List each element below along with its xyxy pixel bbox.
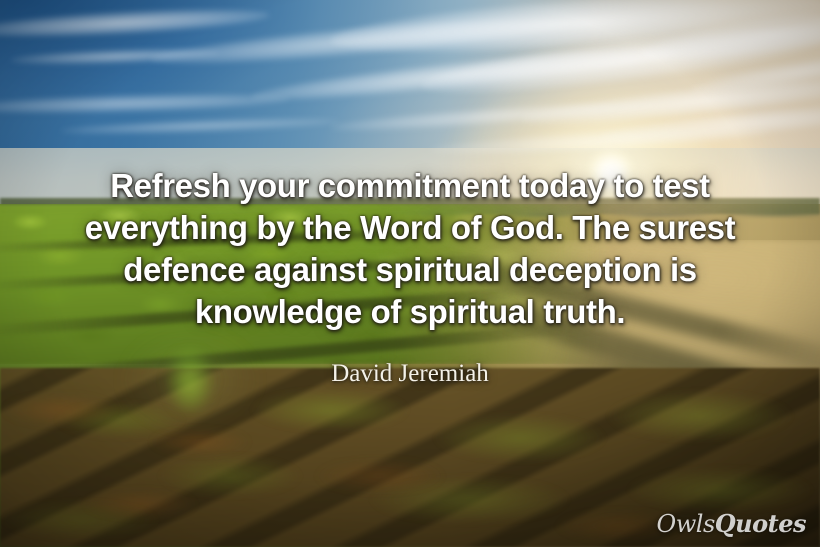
watermark-brand-second: Quotes bbox=[715, 509, 806, 538]
watermark-logo: OwlsQuotes bbox=[657, 511, 806, 537]
lens-flare-green bbox=[168, 350, 212, 412]
quote-image: Refresh your commitment today to test ev… bbox=[0, 0, 820, 547]
watermark-brand-first: Owls bbox=[657, 510, 715, 538]
